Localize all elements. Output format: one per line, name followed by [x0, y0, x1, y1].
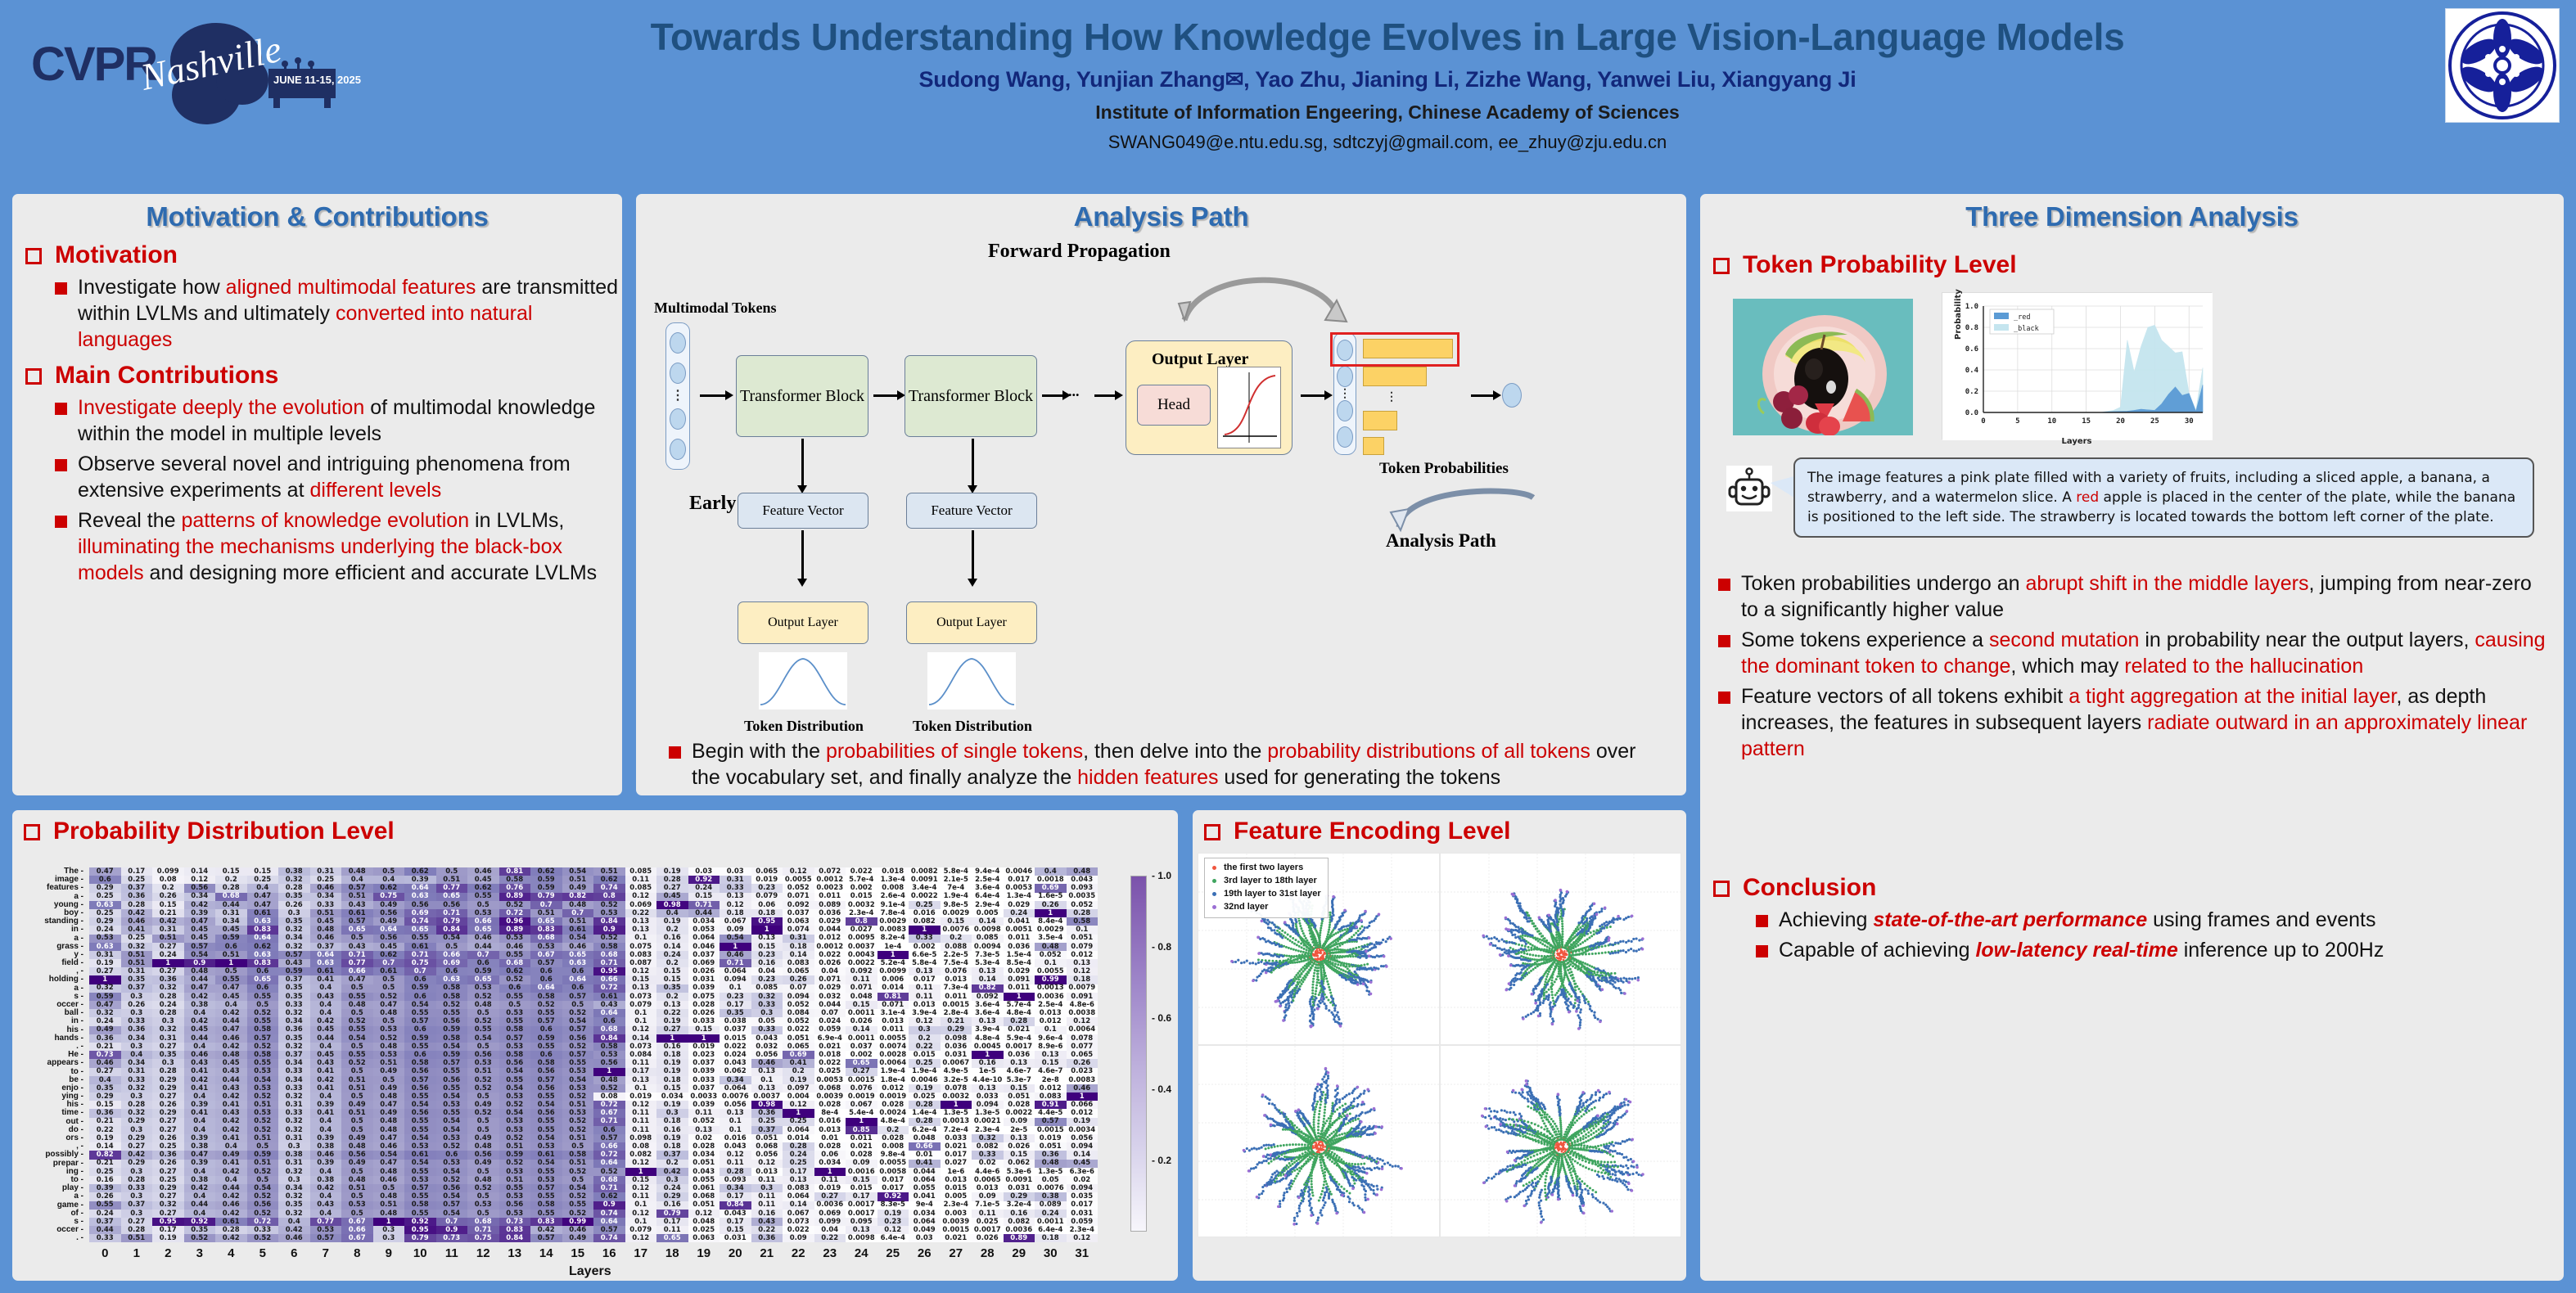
heatmap-cell: 0.5: [215, 967, 247, 975]
heatmap-cell: 0.28: [121, 1101, 153, 1109]
heatmap-cell: 0.42: [184, 1017, 216, 1025]
heatmap-cell: 0.44: [215, 901, 247, 909]
heatmap-cell: 0.51: [247, 1101, 279, 1109]
heatmap-cell: 7.2e-4: [941, 1126, 972, 1134]
heatmap-cell: 0.011: [1004, 935, 1035, 943]
heatmap-cell: 0.082: [625, 1151, 657, 1159]
heatmap-cell: 0.69: [436, 959, 468, 967]
heatmap-cell: 0.064: [688, 935, 720, 943]
heatmap-cell: 0.55: [530, 1093, 562, 1101]
heatmap-cell: 0.32: [89, 984, 121, 993]
heatmap-cell: 0.29: [152, 1184, 184, 1192]
heatmap-cell: 0.54: [530, 1101, 562, 1109]
heatmap-cell: 0.58: [562, 1151, 594, 1159]
text-run: Achieving: [1779, 908, 1873, 931]
heatmap-cell: 0.037: [688, 951, 720, 959]
heatmap-cell: 0.63: [247, 951, 279, 959]
heatmap-cell: 0.4: [184, 1009, 216, 1017]
square-bullet-icon: [55, 459, 67, 471]
heatmap-cell: 0.45: [310, 917, 342, 926]
heatmap-cell: 0.59: [89, 993, 121, 1001]
heatmap-cell: 0.6: [436, 1151, 468, 1159]
heatmap-cell: 0.57: [593, 1134, 625, 1142]
cvpr-logo: CVPR Nashville JUNE 11-15, 2025: [23, 15, 375, 129]
heatmap-cell: 0.25: [89, 1168, 121, 1176]
colorbar-tick: - 0.4: [1152, 1084, 1171, 1095]
heading-probability-distribution-level: Probability Distribution Level: [24, 817, 1178, 846]
heatmap-cell: 0.49: [467, 1134, 499, 1142]
heatmap-x-tick: 28: [972, 1246, 1004, 1260]
heatmap-cell: 0.4: [184, 1126, 216, 1134]
heatmap-cell: 0.0018: [1035, 876, 1067, 884]
heatmap-cell: 0.47: [373, 1160, 405, 1168]
heatmap-cell: 0.53: [467, 909, 499, 917]
heatmap-cell: 0.48: [373, 1009, 405, 1017]
heatmap-cell: 0.56: [499, 1201, 531, 1210]
text-run: related to the hallucination: [2124, 655, 2363, 678]
heatmap-cell: 0.59: [215, 935, 247, 943]
heatmap-cell: 0.44: [184, 1201, 216, 1210]
heatmap-cell: 0.52: [247, 1093, 279, 1101]
heatmap-cell: 0.52: [467, 1109, 499, 1117]
heatmap-cell: 0.54: [436, 935, 468, 943]
heatmap-cell: 0.62: [530, 867, 562, 876]
heatmap-cell: 2.3e-4: [846, 909, 877, 917]
heatmap-cell: 0.026: [1004, 1142, 1035, 1151]
heatmap-cell: 0.26: [152, 893, 184, 901]
heatmap-chart: The -image -features -a -young -boy -sta…: [12, 848, 1178, 1261]
heatmap-cell: 0.6: [89, 876, 121, 884]
heatmap-cell: 0.26: [783, 975, 814, 984]
heatmap-cell: 0.5: [373, 975, 405, 984]
heatmap-cell: 0.24: [152, 1001, 184, 1009]
heatmap-cell: 0.0091: [1004, 1176, 1035, 1184]
text-run: , which may: [2010, 655, 2124, 678]
heatmap-cell: 0.6: [404, 975, 436, 984]
heatmap-cell: 0.017: [941, 1151, 972, 1159]
heatmap-cell: 0.37: [121, 984, 153, 993]
heatmap-cell: 0.083: [1035, 1093, 1067, 1101]
square-bullet-icon: [55, 516, 67, 528]
heatmap-cell: 0.54: [499, 1084, 531, 1093]
heatmap-cell: 0.3: [278, 1176, 310, 1184]
heatmap-cell: 0.51: [121, 1234, 153, 1242]
heatmap-cell: 0.47: [184, 984, 216, 993]
heatmap-cell: 0.57: [530, 1184, 562, 1192]
heatmap-cell: 0.5: [467, 1168, 499, 1176]
heatmap-cell: 0.0064: [877, 1059, 909, 1067]
heatmap-cell: 0.085: [625, 867, 657, 876]
heatmap-cell: 0.71: [404, 951, 436, 959]
heatmap-cell: 0.52: [467, 1084, 499, 1093]
heatmap-cell: 0.084: [625, 1051, 657, 1059]
heatmap-cell: 0.54: [562, 935, 594, 943]
heatmap-cell: 0.23: [877, 1218, 909, 1226]
heatmap-cell: 0.53: [562, 1068, 594, 1076]
heatmap-cell: 0.4: [310, 1093, 342, 1101]
heatmap-cell: 0.33: [278, 1001, 310, 1009]
robot-icon: [1726, 466, 1772, 511]
heatmap-cell: 0.9: [593, 926, 625, 934]
legend-item: 19th layer to 31st layer: [1208, 888, 1321, 901]
heatmap-cell: 0.42: [215, 1009, 247, 1017]
list-item: Token probabilities undergo an abrupt sh…: [1718, 570, 2564, 623]
arrow-fv2-to-ol2: [972, 530, 974, 579]
heatmap-cell: 0.15: [625, 1176, 657, 1184]
heatmap-cell: 0.52: [593, 1168, 625, 1176]
heatmap-cell: 0.15: [247, 867, 279, 876]
heatmap-cell: 0.1: [1067, 926, 1099, 934]
heatmap-cell: 0.44: [688, 909, 720, 917]
heatmap-cell: 0.29: [121, 1118, 153, 1126]
heatmap-cell: 0.47: [247, 893, 279, 901]
heatmap-cell: 0.7: [562, 909, 594, 917]
heatmap-cell: 0.73: [436, 1234, 468, 1242]
heading-feature-encoding-level: Feature Encoding Level: [1204, 817, 1686, 846]
heatmap-cell: 0.65: [404, 926, 436, 934]
heatmap-cell: 5.3e-6: [1004, 1168, 1035, 1176]
heatmap-cell: 0.43: [341, 901, 373, 909]
heatmap-cell: 0.4: [310, 1126, 342, 1134]
heatmap-cell: 0.027: [846, 926, 877, 934]
heatmap-cell: 4.4e-10: [972, 1076, 1004, 1084]
heatmap-cell: 0.54: [562, 1076, 594, 1084]
heatmap-cell: 0.04: [814, 1226, 846, 1234]
heatmap-cell: 0.72: [593, 984, 625, 993]
heatmap-cell: 0.26: [89, 1192, 121, 1201]
heatmap-cell: 0.55: [499, 951, 531, 959]
heatmap-cell: 0.22: [625, 909, 657, 917]
heatmap-cell: 0.028: [877, 1101, 909, 1109]
heatmap-cell: 0.025: [688, 1226, 720, 1234]
heatmap-cell: 0.38: [184, 1142, 216, 1151]
heatmap-cell: 0.32: [972, 1134, 1004, 1142]
heatmap-cell: 0.53: [530, 1176, 562, 1184]
heatmap-x-tick: 4: [215, 1246, 247, 1260]
heatmap-cell: 0.13: [751, 1068, 783, 1076]
heatmap-cell: 0.15: [751, 943, 783, 951]
heatmap-cell: 3.6e-4: [972, 1001, 1004, 1009]
heatmap-cell: 0.0094: [972, 943, 1004, 951]
heatmap-cell: 0.23: [751, 951, 783, 959]
heatmap-cell: 0.03: [688, 867, 720, 876]
square-outline-bullet-icon: [25, 368, 42, 385]
heatmap-cell: 0.64: [562, 975, 594, 984]
heatmap-cell: 0.5: [467, 1118, 499, 1126]
heatmap-cell: 0.52: [562, 1093, 594, 1101]
heatmap-cell: 0.53: [247, 1084, 279, 1093]
heatmap-cell: 0.42: [278, 1226, 310, 1234]
heatmap-cell: 0.7: [373, 959, 405, 967]
heatmap-cell: 0.2: [656, 993, 688, 1001]
heatmap-cell: 0.059: [814, 1026, 846, 1034]
heatmap-cell: 0.0051: [1004, 926, 1035, 934]
heatmap-cell: 0.097: [783, 1084, 814, 1093]
heatmap-cell: 0.41: [215, 1134, 247, 1142]
heatmap-cell: 0.27: [656, 884, 688, 892]
heatmap-cell: 0.34: [121, 1034, 153, 1043]
arrow-to-block2: [873, 394, 898, 397]
heatmap-cell: 0.51: [373, 1059, 405, 1067]
heatmap-cell: 0.52: [593, 935, 625, 943]
heatmap-cell: 0.32: [121, 943, 153, 951]
heatmap-cell: 0.52: [562, 1192, 594, 1201]
heatmap-cell: 0.071: [814, 975, 846, 984]
text-run: inference up to 200Hz: [2178, 939, 2384, 962]
heatmap-cell: 0.66: [341, 967, 373, 975]
heatmap-cell: 0.06: [814, 1151, 846, 1159]
heatmap-cell: 0.49: [89, 1026, 121, 1034]
heatmap-cell: 0.45: [215, 1059, 247, 1067]
heatmap-cell: 0.51: [373, 1201, 405, 1210]
heatmap-cell: 1: [688, 1034, 720, 1043]
heatmap-cell: 0.29: [121, 1134, 153, 1142]
heatmap-cell: 0.051: [1035, 1142, 1067, 1151]
text-run: red: [2076, 489, 2099, 506]
softmax-curve-thumb: [1217, 367, 1281, 448]
heatmap-cell: 0.022: [814, 1059, 846, 1067]
heatmap-cell: 0.34: [720, 1076, 751, 1084]
list-item: Some tokens experience a second mutation…: [1718, 627, 2564, 679]
heatmap-cell: 0.63: [247, 917, 279, 926]
heatmap-cell: 0.19: [656, 1017, 688, 1025]
heatmap-cell: 0.4: [184, 1118, 216, 1126]
arrow-block2-to-fv2: [972, 439, 974, 486]
heatmap-cell: 0.55: [247, 1059, 279, 1067]
chart-xlabel: Layers: [1942, 437, 2212, 446]
heatmap-cell: 0.45: [184, 1026, 216, 1034]
heatmap-cell: 0.0023: [814, 884, 846, 892]
heatmap-cell: 0.0017: [1004, 1043, 1035, 1051]
heatmap-cell: 0.52: [499, 901, 531, 909]
heatmap-cell: 0.067: [846, 1101, 877, 1109]
heatmap-cell: 2e-8: [1035, 1076, 1067, 1084]
heatmap-cell: 0.012: [1067, 1109, 1099, 1117]
heatmap-cell: 0.15: [89, 1101, 121, 1109]
heatmap-cell: 5.3e-4: [972, 959, 1004, 967]
heatmap-cell: 0.46: [121, 917, 153, 926]
heatmap-cell: 0.12: [720, 1151, 751, 1159]
heatmap-cell: 0.61: [341, 909, 373, 917]
square-bullet-icon: [55, 403, 67, 415]
heatmap-cell: 0.19: [152, 1234, 184, 1242]
arrow-to-final-token: [1471, 394, 1494, 397]
heatmap-cell: 0.21: [89, 1118, 121, 1126]
heatmap-cell: 0.3: [121, 993, 153, 1001]
heatmap-cell: 0.41: [310, 975, 342, 984]
heatmap-cell: 0.16: [751, 959, 783, 967]
heatmap-cell: 0.4: [656, 909, 688, 917]
heatmap-cell: 0.2: [656, 959, 688, 967]
heatmap-cell: 0.056: [1067, 1134, 1099, 1142]
heatmap-cell: 0.5: [467, 1009, 499, 1017]
heatmap-cell: 0.02: [972, 1160, 1004, 1168]
heatmap-cell: 0.11: [625, 1126, 657, 1134]
heatmap-cell: 0.083: [783, 959, 814, 967]
heatmap-cell: 0.0067: [941, 1059, 972, 1067]
heatmap-cell: 0.42: [215, 1210, 247, 1218]
heatmap-cell: 0.37: [278, 975, 310, 984]
heatmap-x-tick: 1: [121, 1246, 153, 1260]
heatmap-cell: 0.013: [877, 1017, 909, 1025]
heatmap-cell: 0.2: [909, 1034, 941, 1043]
heatmap-cell: 2.5e-4: [1035, 1001, 1067, 1009]
heatmap-cell: 0.42: [215, 1093, 247, 1101]
heatmap-cell: 0.013: [972, 1184, 1004, 1192]
heatmap-cell: 0.48: [341, 1176, 373, 1184]
heatmap-cell: 0.013: [1035, 1009, 1067, 1017]
heatmap-cell: 0.41: [310, 1068, 342, 1076]
heatmap-cell: 0.2: [877, 1126, 909, 1134]
output-layer-branch-1: Output Layer: [738, 601, 868, 644]
heatmap-cell: 0.34: [184, 893, 216, 901]
heatmap-cell: 0.48: [1035, 943, 1067, 951]
heatmap-cell: 0.15: [656, 967, 688, 975]
legend-color-dot: [1212, 905, 1216, 909]
heatmap-cell: 0.019: [751, 876, 783, 884]
heatmap-cell: 0.37: [310, 943, 342, 951]
heatmap-cell: 0.55: [341, 1026, 373, 1034]
heatmap-cell: 0.12: [1067, 1234, 1099, 1242]
heatmap-cell: 6.3e-6: [1067, 1168, 1099, 1176]
heatmap-cell: 0.11: [656, 1226, 688, 1234]
heatmap-cell: 0.34: [215, 917, 247, 926]
heatmap-cell: 0.53: [404, 1142, 436, 1151]
heatmap-cell: 0.47: [373, 1101, 405, 1109]
heatmap-cell: 0.58: [404, 1201, 436, 1210]
heatmap-cell: 9.8e-4: [877, 1151, 909, 1159]
heading-text: Probability Distribution Level: [53, 817, 395, 846]
heatmap-cell: 0.37: [278, 1051, 310, 1059]
heatmap-cell: 0.011: [1004, 984, 1035, 993]
heatmap-cell: 9e-4: [909, 1201, 941, 1210]
heatmap-cell: 0.39: [184, 1134, 216, 1142]
heatmap-cell: 0.031: [1067, 1210, 1099, 1218]
heatmap-cell: 0.48: [373, 1192, 405, 1201]
heatmap-cell: 0.83: [247, 926, 279, 934]
heatmap-cell: 0.52: [499, 1101, 531, 1109]
heatmap-cell: 0.38: [184, 1176, 216, 1184]
heatmap-cell: 0.048: [688, 1218, 720, 1226]
heatmap-cell: 0.17: [625, 1068, 657, 1076]
heatmap-cell: 0.53: [467, 1059, 499, 1067]
heatmap-cell: 1.8e-4: [877, 1076, 909, 1084]
heatmap-colorbar: [1130, 876, 1147, 1232]
heatmap-cell: 0.036: [1004, 1051, 1035, 1059]
heatmap-cell: 0.026: [688, 967, 720, 975]
heatmap-cell: 0.17: [720, 1218, 751, 1226]
heatmap-cell: 0.14: [625, 1034, 657, 1043]
heatmap-cell: 0.42: [215, 1192, 247, 1201]
heatmap-cell: 0.012: [814, 935, 846, 943]
heatmap-cell: 0.51: [341, 893, 373, 901]
list-item-text: Reveal the patterns of knowledge evoluti…: [78, 507, 622, 586]
heatmap-cell: 0.68: [215, 893, 247, 901]
heatmap-cell: 0.062: [720, 1068, 751, 1076]
heatmap-cell: 0.53: [499, 1093, 531, 1101]
heatmap-cell: 0.5: [341, 1192, 373, 1201]
heatmap-cell: 0.034: [656, 1093, 688, 1101]
heatmap-cell: 0.6: [530, 1051, 562, 1059]
list-item-text: Achieving state-of-the-art performance u…: [1779, 907, 2375, 933]
heatmap-cell: 0.58: [530, 1201, 562, 1210]
heatmap-cell: 0.11: [972, 1210, 1004, 1218]
heatmap-x-tick: 22: [783, 1246, 814, 1260]
heatmap-cell: 0.03: [909, 1234, 941, 1242]
heatmap-cell: 0.12: [625, 1101, 657, 1109]
heatmap-cell: 0.54: [436, 1126, 468, 1134]
heatmap-cell: 0.022: [814, 951, 846, 959]
heatmap-cell: 0.5: [373, 1184, 405, 1192]
heatmap-cell: 0.53: [499, 1168, 531, 1176]
heatmap-cell: 0.082: [909, 917, 941, 926]
heatmap-cell: 0.22: [751, 1226, 783, 1234]
heatmap-cell: 0.017: [909, 975, 941, 984]
heatmap-cell: 0.52: [562, 1043, 594, 1051]
tsne-panel: [1440, 1045, 1682, 1237]
heatmap-cell: 0.25: [89, 893, 121, 901]
heatmap-cell: 0.0058: [877, 1168, 909, 1176]
heatmap-cell: 0.1: [751, 1076, 783, 1084]
heatmap-cell: 0.45: [215, 993, 247, 1001]
heatmap-cell: 0.44: [215, 1184, 247, 1192]
heatmap-cell: 0.034: [909, 1210, 941, 1218]
heatmap-cell: 0.16: [972, 1059, 1004, 1067]
legend-label: the first two layers: [1224, 862, 1303, 875]
heatmap-cell: 0.48: [373, 1126, 405, 1134]
heatmap-cell: 0.24: [688, 884, 720, 892]
heatmap-cell: 0.25: [783, 1118, 814, 1126]
heatmap-cell: 0.7: [530, 901, 562, 909]
heatmap-cell: 0.34: [310, 893, 342, 901]
heatmap-cell: 0.68: [593, 1026, 625, 1034]
heatmap-cell: 0.021: [846, 1142, 877, 1151]
heatmap-cell: 0.041: [1004, 917, 1035, 926]
heatmap-cell: 0.37: [751, 1126, 783, 1134]
svg-text:JUNE 11-15, 2025: JUNE 11-15, 2025: [273, 74, 361, 86]
heatmap-cell: 4.8e-4: [1004, 1009, 1035, 1017]
list-item: Reveal the patterns of knowledge evoluti…: [55, 507, 622, 586]
heatmap-cell: 0.065: [783, 967, 814, 975]
heatmap-cell: 0.61: [404, 1151, 436, 1159]
heatmap-cell: 0.008: [877, 1142, 909, 1151]
analysis-path-panel: Analysis Path Forward Propagation Multim…: [632, 190, 1690, 800]
heatmap-cell: 0.99: [562, 1218, 594, 1226]
heatmap-cell: 7.3e-4: [941, 984, 972, 993]
heatmap-cell: 0.052: [688, 1118, 720, 1126]
text-run: in probability near the output layers,: [2139, 628, 2474, 651]
heatmap-cell: 0.68: [467, 1218, 499, 1226]
heatmap-cell: 0.69: [783, 1051, 814, 1059]
heatmap-cell: 0.041: [909, 1192, 941, 1201]
heatmap-cell: 1: [720, 943, 751, 951]
heatmap-cell: 0.48: [341, 1142, 373, 1151]
heatmap-cell: 0.36: [278, 1026, 310, 1034]
svg-text:0: 0: [1981, 417, 1985, 426]
arrow-to-output-layer: [1094, 394, 1116, 397]
heatmap-cell: 0.51: [310, 909, 342, 917]
heatmap-cell: 0.082: [972, 1142, 1004, 1151]
heatmap-row-label: a -: [12, 1192, 88, 1201]
heatmap-cell: 4.4e-5: [1035, 1109, 1067, 1117]
heatmap-cell: 0.6: [562, 984, 594, 993]
heatmap-cell: 0.57: [562, 993, 594, 1001]
heatmap-cell: 0.51: [562, 1101, 594, 1109]
token-probabilities-label: Token Probabilities: [1379, 460, 1509, 478]
heatmap-cell: 0.51: [562, 1134, 594, 1142]
text-run: Begin with the: [692, 740, 826, 763]
heatmap-cell: 0.48: [373, 1043, 405, 1051]
